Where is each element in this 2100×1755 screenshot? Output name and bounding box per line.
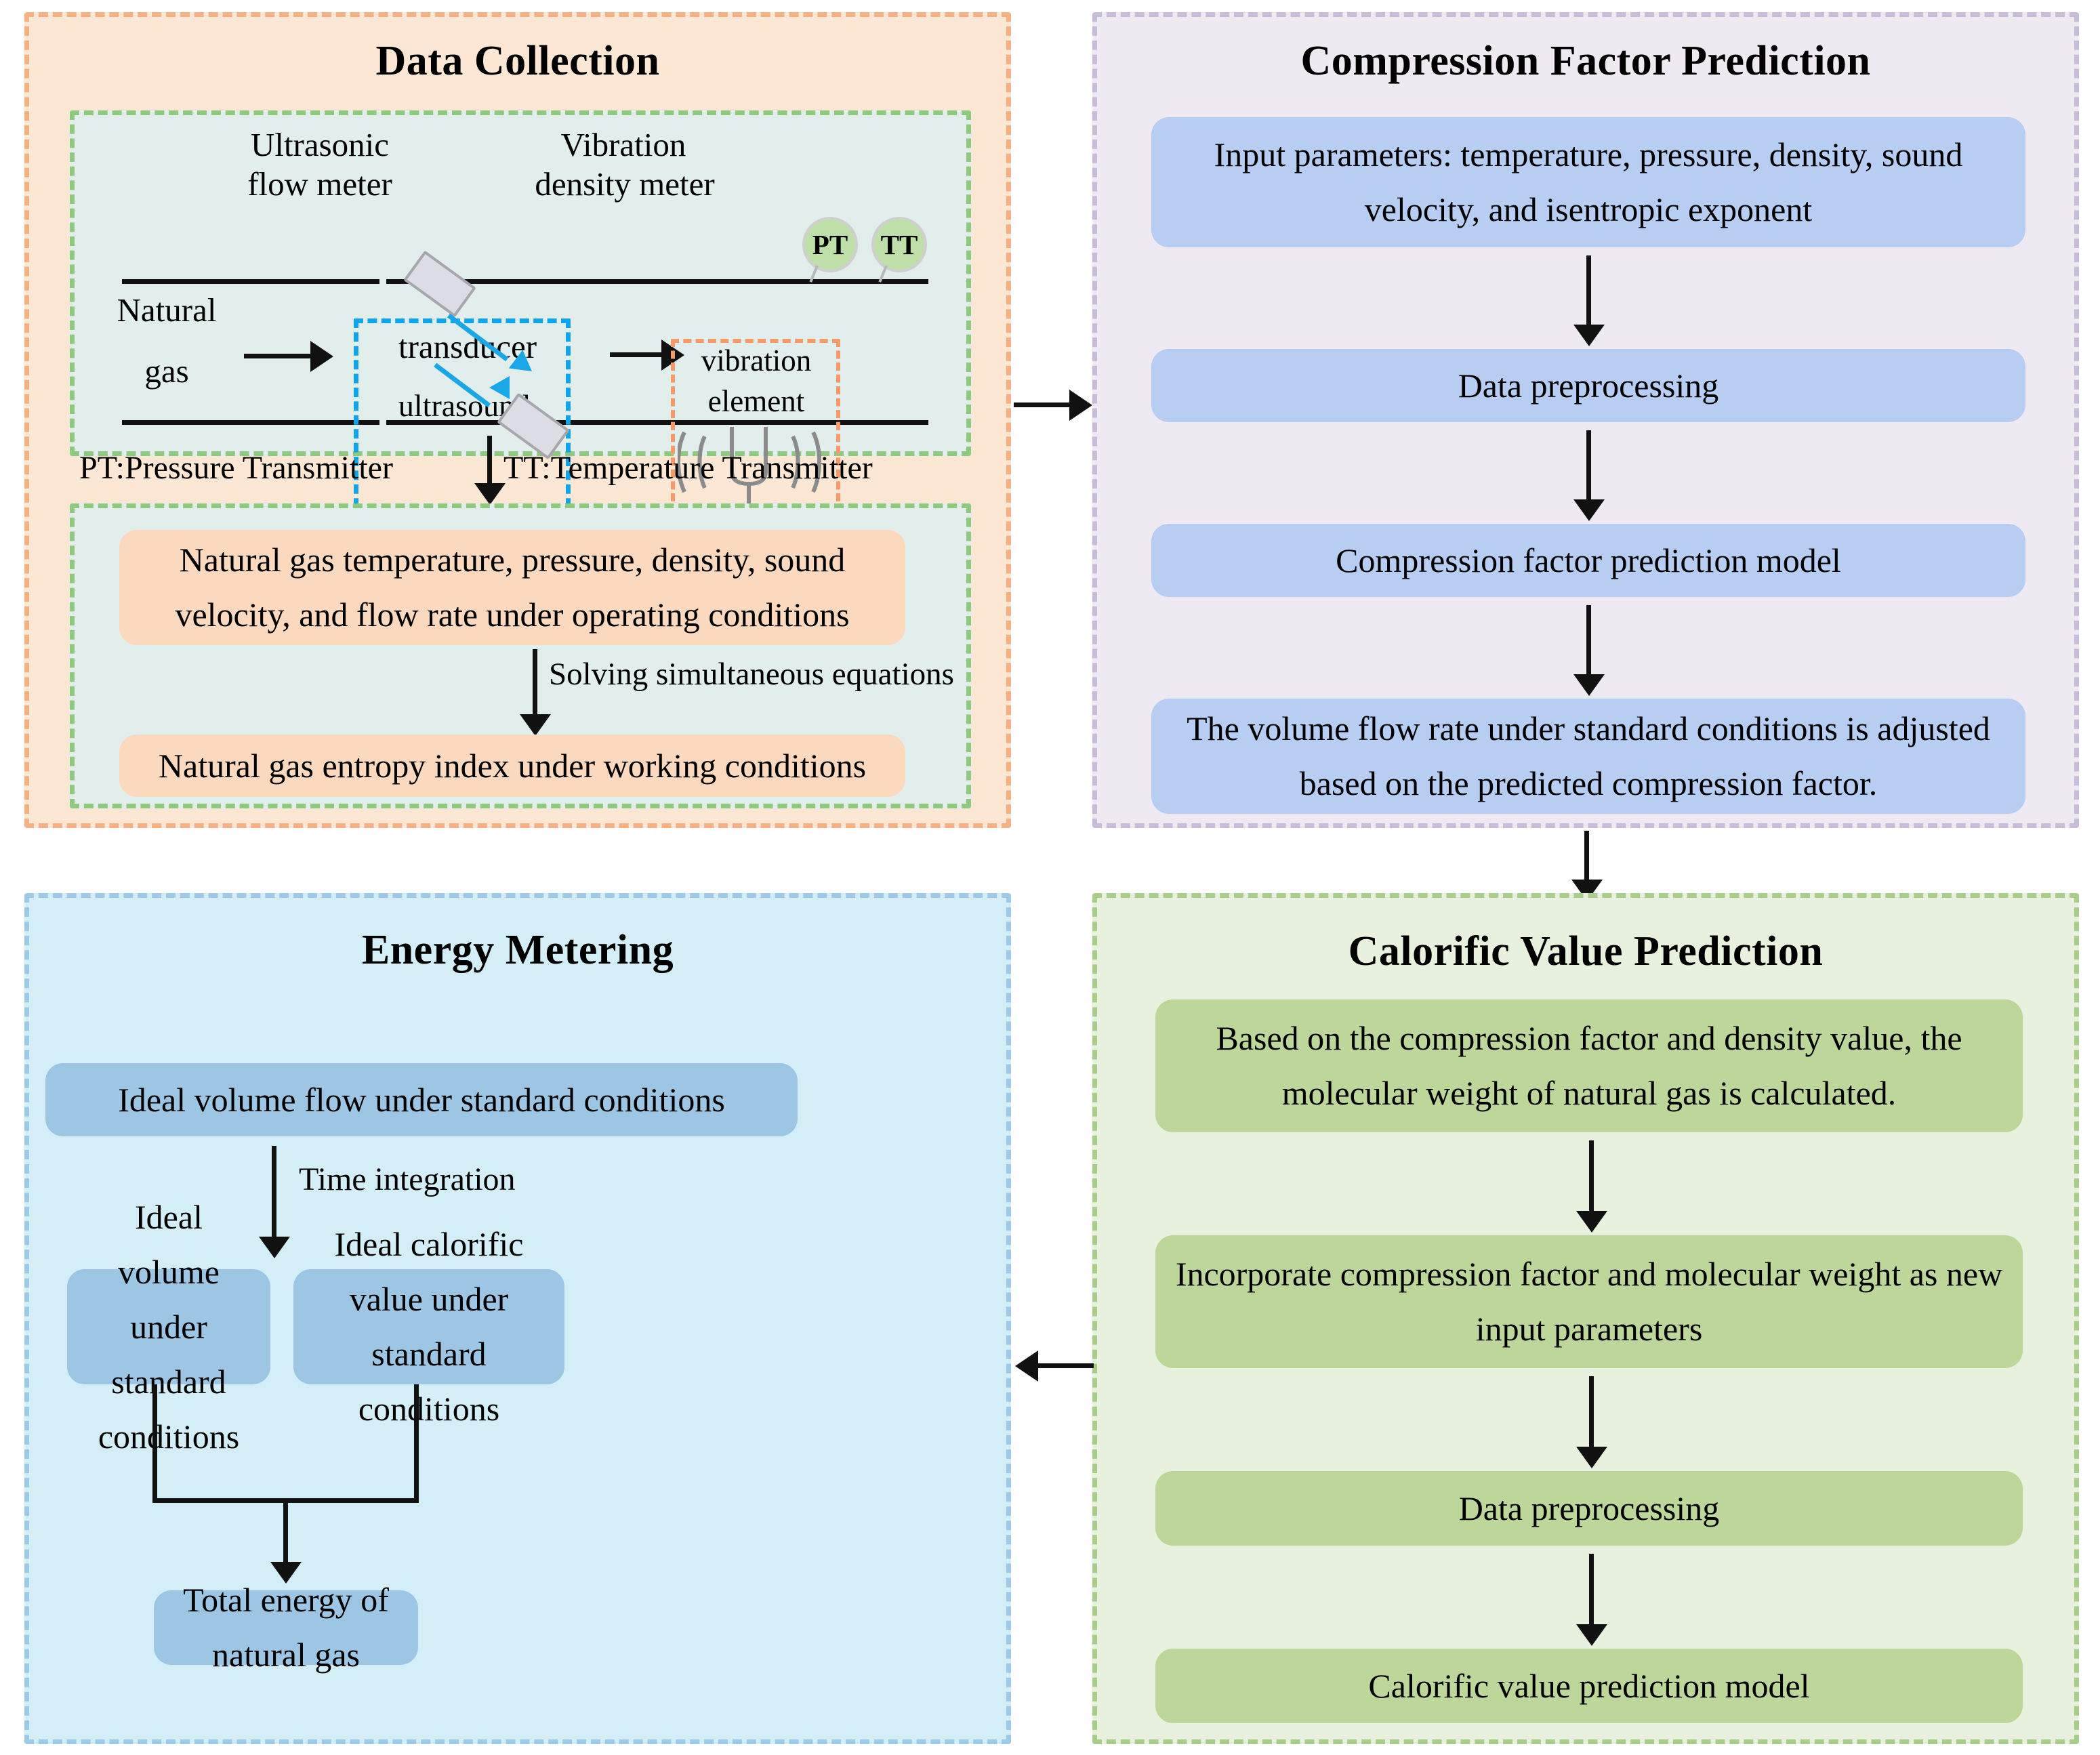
step-data-preprocessing-cf[interactable]: Data preprocessing (1151, 349, 2025, 422)
merge-line-left (152, 1384, 157, 1501)
step-ideal-calorific-value[interactable]: Ideal calorific value under standard con… (293, 1269, 564, 1384)
edge-data-collection-to-compression (1014, 402, 1071, 407)
meter-schematic-group: Ultrasonic flow meter Vibration density … (70, 110, 971, 456)
transducer-plate-upper (403, 251, 476, 318)
step-incorporate-parameters[interactable]: Incorporate compression factor and molec… (1155, 1235, 2023, 1368)
sensor-pt: PT (802, 217, 858, 272)
edge-input-to-preprocessing (1586, 255, 1591, 326)
panel-title-calorific-value: Calorific Value Prediction (1097, 928, 2074, 976)
edge-merge-to-total-energy (283, 1501, 288, 1563)
sensor-pt-label: PT (812, 228, 848, 261)
step-total-energy[interactable]: Total energy of natural gas (154, 1590, 418, 1665)
collected-data-group: Natural gas temperature, pressure, densi… (70, 503, 971, 808)
edge-collection-to-results (487, 436, 492, 484)
edge-label-solving-equations: Solving simultaneous equations (549, 656, 954, 693)
inlet-flow-arrow (244, 354, 312, 358)
vibration-density-meter-label-line1: Vibration (508, 127, 739, 163)
step-adjusted-volume-flow[interactable]: The volume flow rate under standard cond… (1151, 699, 2025, 814)
ultrasound-arrowhead-up (489, 376, 510, 399)
panel-energy-metering: Energy Metering Ideal volume flow under … (24, 893, 1011, 1744)
step-ideal-volume-flow[interactable]: Ideal volume flow under standard conditi… (45, 1063, 798, 1136)
sensor-tt-label: TT (881, 228, 918, 261)
vibration-element-label-line1: vibration (682, 344, 831, 377)
edge-model-to-adjusted-flow (1586, 605, 1591, 676)
edge-label-time-integration: Time integration (299, 1161, 516, 1198)
legend-tt: TT:Temperature Transmitter (503, 449, 873, 487)
step-input-parameters[interactable]: Input parameters: temperature, pressure,… (1151, 117, 2025, 247)
merge-line-right (414, 1384, 419, 1501)
panel-title-data-collection: Data Collection (29, 37, 1006, 85)
ultrasonic-flow-meter-label-line2: flow meter (211, 167, 428, 203)
edge-operating-to-entropy (533, 649, 537, 716)
edge-flow-to-volume (272, 1146, 276, 1238)
step-molecular-weight[interactable]: Based on the compression factor and dens… (1155, 999, 2023, 1132)
panel-calorific-value: Calorific Value Prediction Based on the … (1092, 893, 2079, 1744)
step-ideal-volume[interactable]: Ideal volume under standard conditions (67, 1269, 270, 1384)
panel-title-energy-metering: Energy Metering (29, 926, 1006, 974)
edge-calorific-to-energy (1037, 1363, 1094, 1368)
step-data-preprocessing-cv[interactable]: Data preprocessing (1155, 1471, 2023, 1546)
pipe-midflow-arrow (610, 352, 663, 357)
natural-gas-inlet-label-line1: Natural (85, 293, 248, 329)
pipe-bottom-inlet (122, 420, 379, 425)
step-compression-model[interactable]: Compression factor prediction model (1151, 524, 2025, 597)
edge-preprocessing-to-cv-model (1589, 1554, 1594, 1626)
vibration-density-meter-label-line2: density meter (489, 167, 760, 203)
edge-preprocessing-to-model (1586, 430, 1591, 501)
legend-pt: PT:Pressure Transmitter (79, 449, 393, 487)
pipe-top-inlet (122, 279, 379, 284)
edge-molecular-to-incorporate (1589, 1140, 1594, 1212)
edge-compression-to-calorific (1584, 831, 1589, 881)
panel-compression-factor: Compression Factor Prediction Input para… (1092, 12, 2079, 828)
ultrasonic-flow-meter-label-line1: Ultrasonic (218, 127, 421, 163)
panel-title-compression-factor: Compression Factor Prediction (1097, 37, 2074, 85)
step-calorific-model[interactable]: Calorific value prediction model (1155, 1649, 2023, 1723)
vibration-element-label-line2: element (682, 385, 831, 418)
edge-incorporate-to-preprocessing (1589, 1376, 1594, 1448)
step-operating-conditions[interactable]: Natural gas temperature, pressure, densi… (119, 530, 905, 645)
natural-gas-inlet-label-line2: gas (85, 354, 248, 390)
panel-data-collection: Data Collection Ultrasonic flow meter Vi… (24, 12, 1011, 828)
sensor-tt: TT (871, 217, 927, 272)
step-entropy-index[interactable]: Natural gas entropy index under working … (119, 735, 905, 797)
